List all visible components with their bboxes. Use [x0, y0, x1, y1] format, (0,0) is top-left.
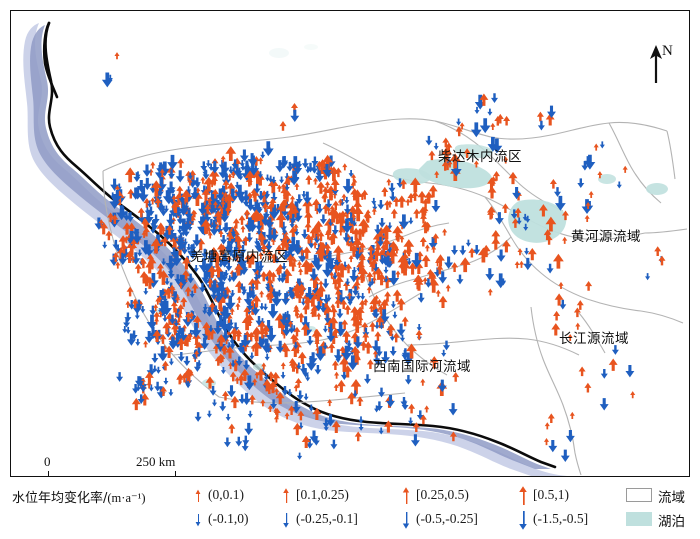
arrow-down-symbol — [645, 273, 650, 280]
arrow-up-symbol — [585, 215, 590, 222]
water-level-arrow-symbols — [94, 52, 665, 462]
arrow-up-symbol — [225, 146, 236, 161]
legend-title-text: 水位年均变化率/ — [12, 491, 107, 506]
scale-bar-max: 250 km — [136, 454, 175, 470]
arrow-down-symbol — [617, 181, 622, 188]
arrow-up-symbol — [654, 246, 661, 256]
arrow-up-symbol — [488, 288, 493, 295]
arrow-up-symbol — [391, 209, 398, 219]
arrow-up-symbol — [125, 301, 130, 308]
arrow-down-symbol — [320, 215, 327, 225]
legend-label-rise-1: (0,0.1) — [208, 487, 244, 503]
arrow-up-symbol — [519, 261, 524, 268]
arrow-down-symbol — [377, 200, 384, 210]
arrow-down-symbol — [390, 346, 397, 356]
arrow-up-symbol — [177, 373, 184, 383]
arrow-down-symbol — [497, 250, 506, 262]
arrow-up-symbol — [422, 255, 431, 267]
arrow-up-symbol — [333, 245, 344, 260]
arrow-down-icon — [398, 509, 414, 531]
arrow-up-symbol — [337, 380, 346, 392]
arrow-up-symbol — [240, 225, 245, 232]
arrow-up-symbol — [488, 186, 497, 198]
arrow-down-symbol — [383, 267, 388, 274]
arrow-up-symbol — [502, 240, 511, 252]
arrow-up-symbol — [548, 413, 555, 423]
arrow-down-symbol — [235, 437, 242, 447]
arrow-down-symbol — [425, 136, 432, 146]
arrow-up-symbol — [138, 208, 145, 218]
arrow-down-symbol — [512, 187, 521, 199]
arrow-up-symbol — [446, 284, 451, 291]
arrow-up-icon — [398, 485, 414, 507]
arrow-down-symbol — [279, 176, 284, 183]
arrow-up-symbol — [413, 209, 420, 219]
arrow-down-symbol — [133, 255, 140, 265]
arrow-up-symbol — [544, 438, 549, 445]
arrow-down-symbol — [336, 309, 343, 319]
arrow-up-symbol — [304, 211, 313, 223]
arrow-up-symbol — [342, 163, 347, 170]
arrow-up-symbol — [335, 167, 342, 177]
arrow-down-symbol — [102, 242, 107, 249]
arrow-down-icon — [515, 509, 531, 531]
arrow-up-symbol — [298, 352, 307, 364]
arrow-down-symbol — [491, 93, 498, 103]
arrow-up-symbol — [316, 313, 321, 320]
arrow-down-symbol — [151, 353, 158, 363]
arrow-down-symbol — [301, 191, 306, 198]
arrow-down-symbol — [183, 356, 190, 366]
arrow-up-symbol — [331, 307, 338, 317]
arrow-up-symbol — [428, 150, 435, 160]
legend-label-rise-4: [0.5,1) — [533, 487, 569, 503]
arrow-up-symbol — [659, 256, 666, 266]
arrow-down-symbol — [290, 110, 299, 122]
legend: 水位年均变化率/(m·a⁻¹) (0,0.1) [0.1,0.25) [0.25… — [0, 481, 700, 539]
arrow-down-symbol — [143, 288, 148, 295]
arrow-up-symbol — [235, 303, 240, 310]
arrow-down-symbol — [242, 442, 249, 452]
arrow-down-symbol — [343, 179, 354, 194]
legend-title-unit: (m·a⁻¹) — [107, 491, 145, 505]
arrow-up-icon — [515, 485, 531, 507]
arrow-down-symbol — [466, 240, 471, 247]
arrow-up-symbol — [150, 162, 155, 169]
arrow-down-symbol — [480, 118, 491, 133]
arrow-down-symbol — [286, 162, 293, 172]
arrow-up-symbol — [228, 424, 235, 434]
arrow-up-symbol — [562, 237, 567, 244]
arrow-down-symbol — [547, 264, 554, 274]
arrow-up-symbol — [515, 261, 520, 268]
arrow-down-symbol — [360, 293, 365, 300]
arrow-down-symbol — [168, 389, 173, 396]
arrow-down-symbol — [379, 218, 386, 228]
arrow-down-symbol — [297, 453, 302, 460]
arrow-down-symbol — [219, 402, 226, 412]
arrow-up-symbol — [623, 166, 628, 173]
arrow-down-symbol — [135, 339, 140, 346]
arrow-down-symbol — [281, 372, 286, 379]
arrow-down-symbol — [405, 375, 412, 385]
legend-label-fall-1: (-0.1,0) — [208, 511, 249, 527]
arrow-up-icon — [278, 485, 294, 507]
arrow-down-symbol — [451, 245, 458, 255]
arrow-up-symbol — [114, 52, 119, 59]
arrow-down-symbol — [474, 107, 479, 114]
legend-label-fall-4: (-1.5,-0.5] — [533, 511, 588, 527]
arrow-up-symbol — [381, 187, 388, 197]
arrow-up-symbol — [420, 237, 427, 247]
arrow-down-symbol — [600, 141, 605, 148]
arrow-down-symbol — [495, 273, 506, 288]
arrow-down-icon — [190, 509, 206, 531]
arrow-down-symbol — [263, 141, 274, 156]
arrow-down-symbol — [431, 200, 440, 212]
arrow-down-symbol — [364, 374, 371, 384]
arrow-up-symbol — [579, 366, 586, 376]
legend-label-fall-2: (-0.25,-0.1] — [296, 511, 358, 527]
map-label-yangtze-source: 长江源流域 — [559, 333, 629, 347]
arrow-up-symbol — [553, 254, 564, 269]
arrow-down-symbol — [600, 398, 609, 410]
arrow-down-symbol — [143, 165, 152, 177]
arrow-down-symbol — [554, 187, 561, 197]
arrow-down-symbol — [449, 403, 458, 415]
arrow-up-symbol — [290, 195, 295, 202]
arrow-down-symbol — [457, 275, 464, 285]
scale-bar: 0 250 km — [44, 454, 204, 477]
arrow-up-symbol — [408, 404, 415, 414]
legend-label-fall-3: (-0.5,-0.25] — [416, 511, 478, 527]
arrow-up-symbol — [575, 323, 580, 330]
legend-label-rise-2: [0.1,0.25) — [296, 487, 349, 503]
arrow-down-symbol — [304, 393, 309, 400]
legend-label-lake: 湖泊 — [658, 510, 685, 530]
figure-root: 柴达木内流区 黄河源流域 长江源流域 西南国际河流域 羌塘高原内流区 N 0 2… — [0, 0, 700, 539]
arrow-up-symbol — [405, 199, 410, 206]
arrow-up-symbol — [509, 172, 518, 184]
arrow-down-symbol — [459, 246, 466, 256]
arrow-up-symbol — [355, 432, 362, 442]
arrow-down-symbol — [322, 279, 329, 289]
arrow-down-symbol — [200, 161, 207, 171]
arrow-up-symbol — [233, 218, 240, 228]
arrow-up-symbol — [584, 383, 591, 393]
arrow-up-symbol — [280, 121, 287, 131]
arrow-up-symbol — [402, 317, 409, 327]
arrow-up-symbol — [412, 191, 419, 201]
north-arrow: N — [638, 39, 688, 85]
north-arrow-label: N — [662, 43, 673, 60]
arrow-up-symbol — [420, 379, 425, 386]
arrow-down-symbol — [391, 301, 396, 308]
arrow-down-symbol — [344, 197, 349, 204]
arrow-down-symbol — [167, 155, 178, 170]
arrow-up-symbol — [545, 422, 550, 429]
arrow-up-symbol — [502, 203, 509, 213]
arrow-up-symbol — [334, 372, 339, 379]
arrow-up-symbol — [570, 412, 575, 419]
arrow-down-symbol — [577, 178, 584, 188]
arrow-down-symbol — [392, 312, 397, 319]
arrow-up-symbol — [259, 290, 264, 297]
arrow-up-symbol — [490, 123, 495, 130]
arrow-up-symbol — [395, 271, 400, 278]
arrow-up-symbol — [550, 179, 557, 189]
arrow-up-symbol — [386, 324, 395, 336]
basin-swatch — [626, 488, 652, 502]
arrow-up-symbol — [367, 286, 372, 293]
arrow-down-symbol — [156, 367, 161, 374]
arrow-up-symbol — [609, 359, 618, 371]
arrow-down-symbol — [207, 411, 212, 418]
arrow-down-symbol — [212, 399, 217, 406]
arrow-down-symbol — [244, 423, 253, 435]
arrow-up-symbol — [468, 248, 475, 258]
arrow-up-symbol — [230, 396, 239, 408]
arrow-down-symbol — [471, 122, 482, 137]
arrow-up-symbol — [594, 144, 599, 151]
arrow-up-symbol — [589, 191, 594, 198]
arrow-down-symbol — [116, 372, 123, 382]
arrow-up-symbol — [328, 343, 335, 353]
arrow-up-symbol — [503, 116, 510, 126]
map-label-qiangtang: 羌塘高原内流区 — [190, 251, 288, 265]
map-label-southwest-rivers: 西南国际河流域 — [373, 361, 471, 375]
arrow-down-symbol — [441, 350, 446, 357]
arrow-down-symbol — [195, 412, 202, 422]
arrow-up-symbol — [630, 391, 635, 398]
arrow-down-symbol — [485, 268, 494, 280]
arrow-down-symbol — [408, 217, 413, 224]
arrow-up-symbol — [281, 362, 286, 369]
arrow-up-symbol — [239, 215, 246, 225]
arrow-down-symbol — [224, 438, 231, 448]
arrow-up-symbol — [143, 340, 148, 347]
arrow-down-symbol — [314, 365, 321, 375]
arrow-up-symbol — [177, 158, 184, 168]
arrow-down-symbol — [386, 395, 395, 407]
arrow-down-symbol — [330, 440, 337, 450]
arrow-down-symbol — [135, 312, 140, 319]
arrow-up-symbol — [125, 167, 136, 182]
scale-bar-zero: 0 — [44, 454, 51, 470]
arrow-down-symbol — [399, 214, 410, 229]
arrow-up-symbol — [436, 290, 441, 297]
arrow-down-symbol — [306, 356, 317, 371]
arrow-down-symbol — [443, 341, 450, 351]
legend-title: 水位年均变化率/(m·a⁻¹) — [12, 487, 146, 506]
arrow-down-symbol — [487, 109, 492, 116]
legend-label-basin: 流域 — [658, 486, 685, 506]
arrow-down-symbol — [561, 450, 570, 462]
arrow-up-symbol — [537, 112, 544, 122]
arrow-up-symbol — [553, 311, 560, 321]
arrow-down-icon — [278, 509, 294, 531]
arrow-up-symbol — [397, 195, 406, 207]
arrow-up-symbol — [316, 181, 325, 193]
arrow-down-symbol — [265, 354, 270, 361]
arrow-up-symbol — [439, 296, 448, 308]
arrow-up-symbol — [460, 257, 471, 272]
arrow-down-symbol — [438, 380, 447, 392]
arrow-down-symbol — [259, 303, 264, 310]
arrow-down-symbol — [456, 119, 461, 126]
arrow-down-symbol — [226, 414, 231, 421]
arrow-up-symbol — [416, 330, 423, 340]
scale-bar-line — [48, 471, 176, 477]
arrow-up-symbol — [374, 331, 381, 341]
arrow-down-symbol — [169, 358, 174, 365]
arrow-up-symbol — [372, 208, 377, 215]
arrow-up-symbol — [585, 281, 592, 291]
legend-label-rise-3: [0.25,0.5) — [416, 487, 469, 503]
map-label-yellow-river-source: 黄河源流域 — [571, 231, 641, 245]
lake-swatch — [626, 512, 652, 526]
arrow-down-symbol — [473, 245, 480, 255]
arrow-down-symbol — [102, 72, 113, 87]
arrow-down-symbol — [307, 336, 314, 346]
arrow-up-symbol — [344, 305, 351, 315]
arrow-down-symbol — [163, 378, 168, 385]
arrow-down-symbol — [323, 326, 328, 333]
arrow-down-symbol — [548, 440, 557, 452]
map-label-qaidam: 柴达木内流区 — [438, 151, 522, 165]
arrow-up-symbol — [442, 229, 447, 236]
map-frame: 柴达木内流区 黄河源流域 长江源流域 西南国际河流域 羌塘高原内流区 N 0 2… — [10, 10, 690, 477]
arrow-up-symbol — [386, 178, 391, 185]
arrow-down-symbol — [538, 121, 545, 131]
arrow-down-symbol — [601, 369, 608, 379]
arrow-down-symbol — [248, 411, 253, 418]
arrow-down-symbol — [240, 150, 249, 162]
arrow-up-symbol — [237, 296, 242, 303]
arrow-up-symbol — [424, 405, 429, 412]
arrow-up-symbol — [162, 361, 169, 371]
arrow-up-symbol — [425, 244, 430, 251]
arrow-down-symbol — [400, 335, 405, 342]
arrow-up-symbol — [127, 287, 134, 297]
arrow-up-symbol — [135, 264, 142, 274]
arrow-down-symbol — [176, 170, 185, 182]
arrow-up-symbol — [305, 175, 312, 185]
arrow-up-symbol — [298, 268, 303, 275]
arrow-up-icon — [190, 485, 206, 507]
arrow-down-symbol — [625, 365, 634, 377]
